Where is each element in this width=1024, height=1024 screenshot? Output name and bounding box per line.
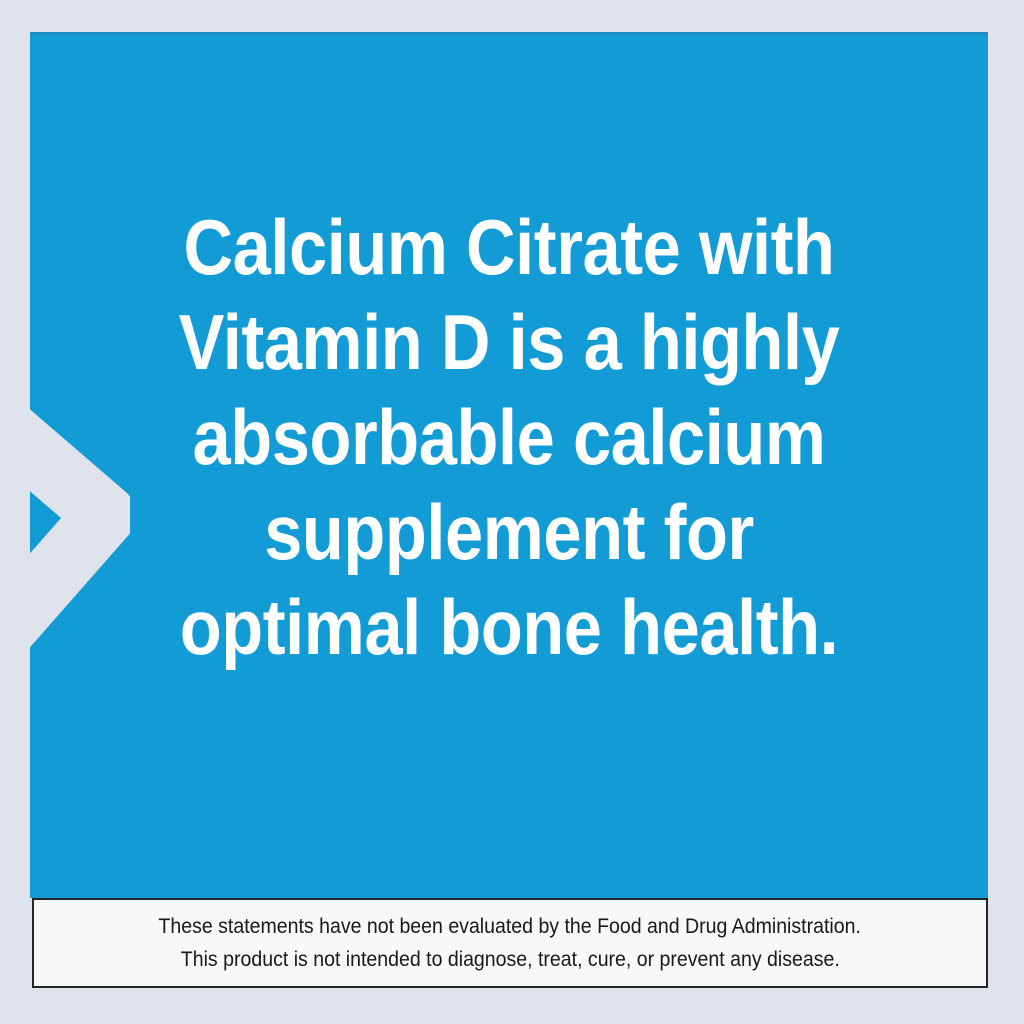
promo-graphic-canvas: Calcium Citrate with Vitamin D is a high… (0, 0, 1024, 1024)
disclaimer-line-1: These statements have not been evaluated… (159, 910, 861, 943)
page-title: Calcium Citrate with Vitamin D is a high… (146, 200, 873, 675)
fda-disclaimer-box: These statements have not been evaluated… (32, 898, 988, 988)
headline-container: Calcium Citrate with Vitamin D is a high… (30, 32, 988, 898)
disclaimer-line-2: This product is not intended to diagnose… (181, 943, 840, 976)
